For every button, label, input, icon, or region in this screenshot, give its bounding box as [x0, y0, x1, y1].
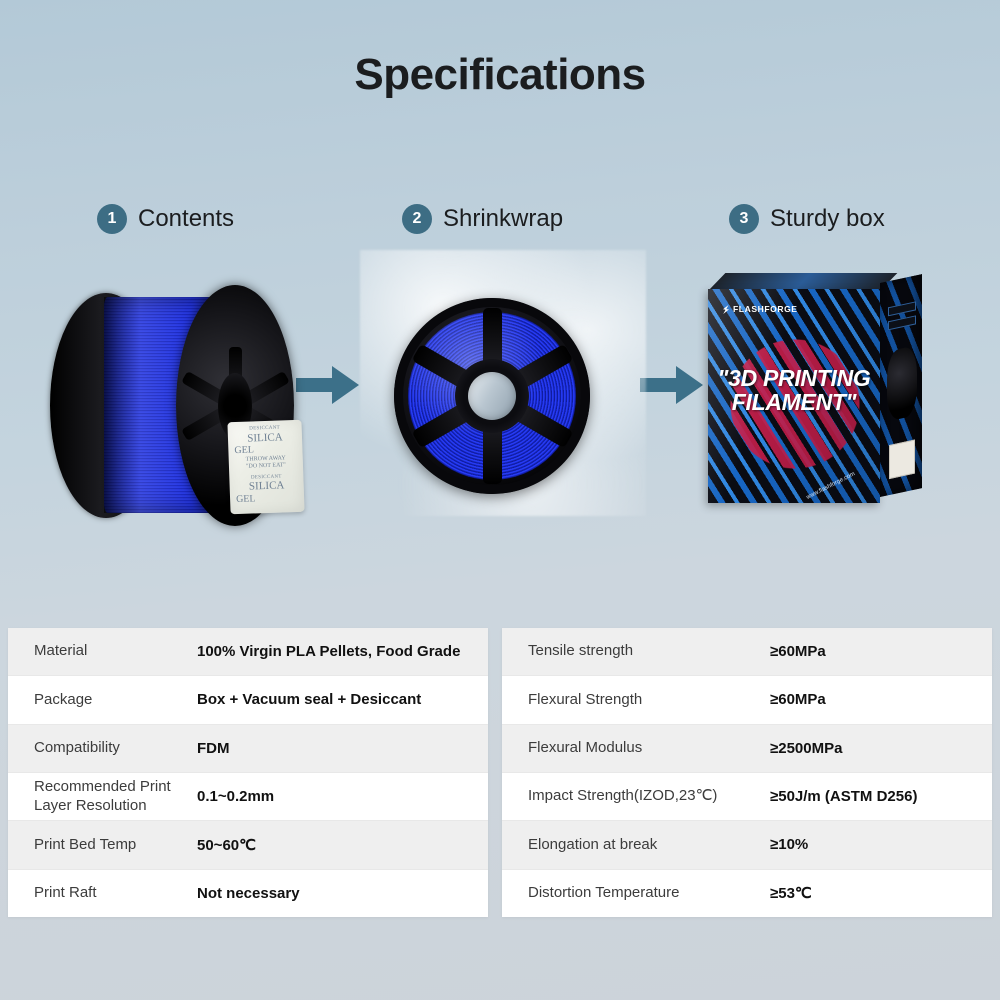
spec-value: 0.1~0.2mm [197, 788, 274, 805]
spec-key: Material [34, 642, 197, 661]
step-header-contents: 1 Contents [97, 204, 234, 234]
page-title: Specifications [0, 50, 1000, 100]
step-header-shrinkwrap: 2 Shrinkwrap [402, 204, 563, 234]
arrow-right-icon [296, 363, 360, 407]
spec-value: ≥50J/m (ASTM D256) [770, 788, 917, 805]
step-number-badge: 3 [729, 204, 759, 234]
spec-value: ≥53℃ [770, 884, 812, 902]
spec-table-right: Tensile strength ≥60MPa Flexural Strengt… [502, 628, 992, 917]
box-side-face [880, 274, 922, 497]
table-row: Distortion Temperature ≥53℃ [502, 870, 992, 917]
table-row: Tensile strength ≥60MPa [502, 628, 992, 676]
table-row: Flexural Strength ≥60MPa [502, 676, 992, 724]
table-row: Material 100% Virgin PLA Pellets, Food G… [8, 628, 488, 676]
step-header-sturdy-box: 3 Sturdy box [729, 204, 885, 234]
brand-name: FLASHFORGE [733, 304, 798, 314]
spool-body [394, 298, 590, 494]
spec-key: Tensile strength [528, 642, 770, 661]
box-headline-line-2: FILAMENT" [708, 391, 880, 415]
table-row: Elongation at break ≥10% [502, 821, 992, 869]
product-image-shrinkwrapped-spool [372, 252, 634, 514]
spec-key: Compatibility [34, 739, 197, 758]
table-row: Compatibility FDM [8, 725, 488, 773]
packet-text-line: "DO NOT EAT" [229, 461, 303, 470]
box-headline-line-1: "3D PRINTING [708, 367, 880, 391]
step-label: Contents [138, 205, 234, 233]
step-number-badge: 2 [402, 204, 432, 234]
spec-value: 50~60℃ [197, 836, 256, 854]
product-image-desiccant-packet: DESICCANT SILICA GEL THROW AWAY "DO NOT … [227, 420, 304, 515]
spec-value: 100% Virgin PLA Pellets, Food Grade [197, 643, 460, 660]
flashforge-logo: FLASHFORGE [722, 304, 798, 314]
spec-key: Recommended Print Layer Resolution [34, 778, 197, 816]
spec-value: FDM [197, 740, 230, 757]
spec-table-left: Material 100% Virgin PLA Pellets, Food G… [8, 628, 488, 917]
table-row: Print Bed Temp 50~60℃ [8, 821, 488, 869]
spec-value: ≥60MPa [770, 691, 826, 708]
product-image-retail-box: FLASHFORGE "3D PRINTING FILAMENT" www.fl… [702, 283, 928, 513]
spec-value: ≥2500MPa [770, 740, 842, 757]
spec-key: Flexural Strength [528, 691, 770, 710]
spec-key: Package [34, 691, 197, 710]
box-front-face: FLASHFORGE "3D PRINTING FILAMENT" www.fl… [708, 289, 880, 503]
step-label: Sturdy box [770, 205, 885, 233]
box-side-strip [888, 315, 916, 330]
spec-key: Impact Strength(IZOD,23℃) [528, 787, 770, 806]
spec-value: Not necessary [197, 885, 300, 902]
spec-key: Elongation at break [528, 836, 770, 855]
step-number-badge: 1 [97, 204, 127, 234]
spec-key: Print Bed Temp [34, 836, 197, 855]
step-label: Shrinkwrap [443, 205, 563, 233]
spec-key: Distortion Temperature [528, 884, 770, 903]
arrow-right-icon [640, 363, 704, 407]
spec-key: Flexural Modulus [528, 739, 770, 758]
box-side-sku-label [889, 440, 915, 480]
spec-value: ≥60MPa [770, 643, 826, 660]
box-side-strip [888, 301, 916, 316]
box-side-spool-graphic [887, 345, 917, 421]
flashforge-mark-icon [722, 305, 730, 314]
spec-value: Box + Vacuum seal + Desiccant [197, 691, 421, 708]
table-row: Flexural Modulus ≥2500MPa [502, 725, 992, 773]
table-row: Impact Strength(IZOD,23℃) ≥50J/m (ASTM D… [502, 773, 992, 821]
spec-value: ≥10% [770, 836, 808, 853]
table-row: Package Box + Vacuum seal + Desiccant [8, 676, 488, 724]
table-row: Recommended Print Layer Resolution 0.1~0… [8, 773, 488, 821]
box-headline: "3D PRINTING FILAMENT" [708, 367, 880, 414]
spec-key: Print Raft [34, 884, 197, 903]
table-row: Print Raft Not necessary [8, 870, 488, 917]
packet-text-line: GEL [230, 492, 304, 506]
